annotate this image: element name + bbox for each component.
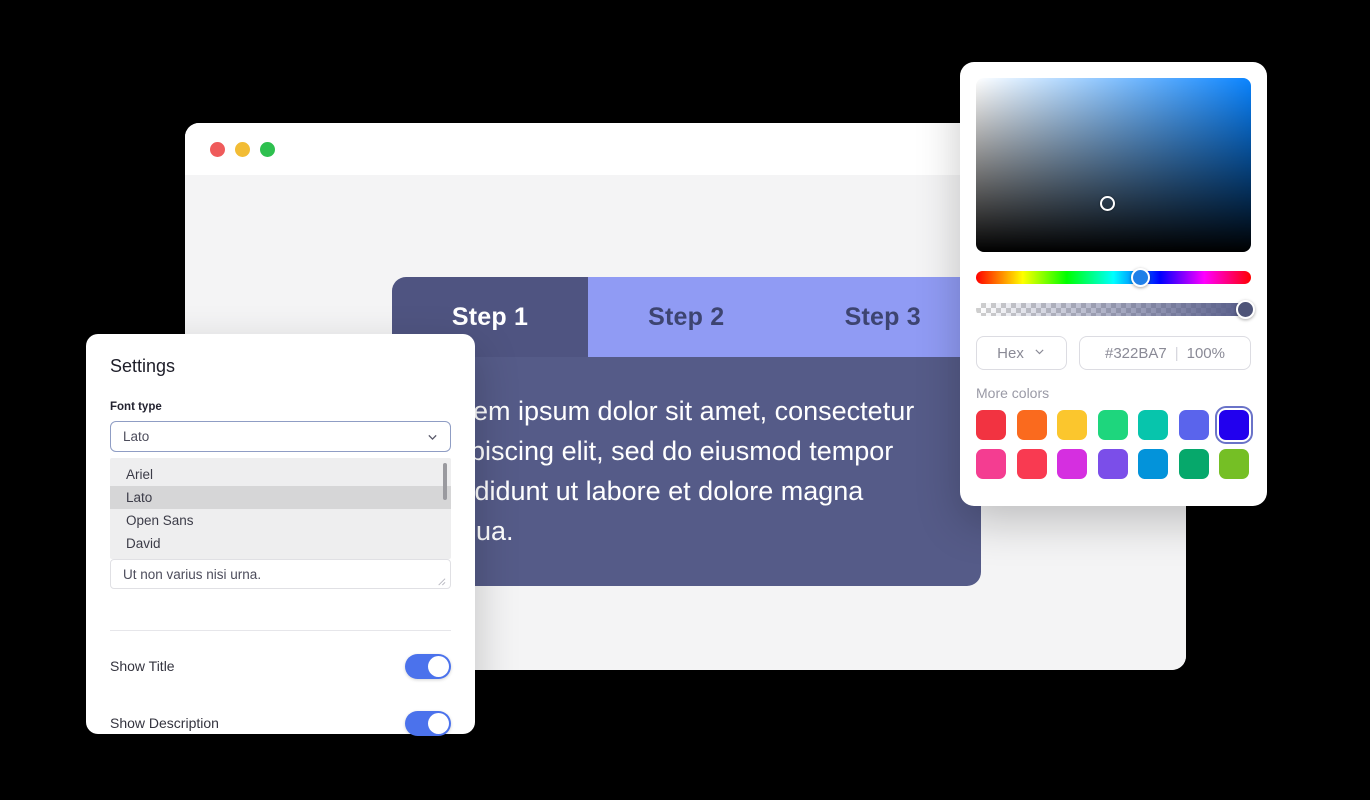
tab-step-3-label: Step 3 [845, 303, 921, 332]
tab-step-2-label: Step 2 [648, 303, 724, 332]
color-swatch[interactable] [1057, 410, 1087, 440]
hue-slider[interactable] [976, 271, 1251, 284]
tab-step-2[interactable]: Step 2 [588, 277, 785, 357]
dropdown-option-ariel[interactable]: Ariel [110, 463, 451, 486]
color-swatch[interactable] [1138, 410, 1168, 440]
color-swatch[interactable] [1179, 449, 1209, 479]
more-colors-label: More colors [976, 385, 1251, 401]
chevron-down-icon [1033, 345, 1046, 362]
show-title-row: Show Title [110, 644, 451, 688]
color-swatch[interactable] [1219, 449, 1249, 479]
tab-step-3[interactable]: Step 3 [785, 277, 982, 357]
window-close-icon[interactable] [210, 142, 225, 157]
tab-step-1-label: Step 1 [452, 303, 528, 332]
show-title-toggle-knob [428, 656, 449, 677]
hex-separator: | [1175, 345, 1179, 362]
opacity-value-text: 100% [1187, 345, 1225, 362]
settings-panel: Settings Font type Lato Ariel Lato Open … [86, 334, 475, 734]
color-swatch-grid [976, 410, 1251, 479]
show-description-toggle[interactable] [405, 711, 451, 736]
color-swatch[interactable] [1179, 410, 1209, 440]
color-format-label: Hex [997, 345, 1024, 362]
hex-value-text: #322BA7 [1105, 345, 1167, 362]
steps-body-text: Lorem ipsum dolor sit amet, consectetur … [434, 391, 939, 551]
dropdown-option-david[interactable]: David [110, 532, 451, 555]
dropdown-scrollbar[interactable] [443, 463, 447, 539]
window-maximize-icon[interactable] [260, 142, 275, 157]
settings-panel-title: Settings [110, 356, 451, 377]
color-swatch[interactable] [1098, 410, 1128, 440]
font-type-select[interactable]: Lato [110, 421, 451, 452]
font-type-dropdown-list[interactable]: Ariel Lato Open Sans David [110, 458, 451, 559]
settings-divider [110, 630, 451, 631]
steps-body: Lorem ipsum dolor sit amet, consectetur … [392, 357, 981, 586]
description-textarea-value: Ut non varius nisi urna. [123, 567, 261, 582]
dropdown-option-open-sans[interactable]: Open Sans [110, 509, 451, 532]
dropdown-option-lato[interactable]: Lato [110, 486, 451, 509]
steps-tab-bar: Step 1 Step 2 Step 3 [392, 277, 981, 357]
dropdown-scrollbar-thumb[interactable] [443, 463, 447, 500]
chevron-down-icon [426, 430, 439, 443]
hex-value-field[interactable]: #322BA7 | 100% [1079, 336, 1251, 370]
color-picker-inputs: Hex #322BA7 | 100% [976, 336, 1251, 370]
color-swatch[interactable] [1098, 449, 1128, 479]
color-swatch[interactable] [976, 410, 1006, 440]
color-swatch[interactable] [1138, 449, 1168, 479]
font-type-label: Font type [110, 401, 451, 413]
alpha-slider-handle[interactable] [1236, 300, 1255, 319]
stage: Step 1 Step 2 Step 3 Lorem ipsum dolor s… [0, 0, 1370, 800]
font-type-select-value: Lato [123, 429, 149, 444]
show-title-toggle[interactable] [405, 654, 451, 679]
color-format-select[interactable]: Hex [976, 336, 1067, 370]
description-textarea[interactable]: Ut non varius nisi urna. [110, 559, 451, 589]
saturation-value-handle[interactable] [1100, 196, 1115, 211]
show-title-label: Show Title [110, 658, 175, 674]
window-minimize-icon[interactable] [235, 142, 250, 157]
show-description-toggle-knob [428, 713, 449, 734]
color-swatch[interactable] [1017, 449, 1047, 479]
steps-card: Step 1 Step 2 Step 3 Lorem ipsum dolor s… [392, 277, 981, 586]
show-description-label: Show Description [110, 715, 219, 731]
color-swatch[interactable] [1219, 410, 1249, 440]
saturation-value-area[interactable] [976, 78, 1251, 252]
color-swatch[interactable] [1057, 449, 1087, 479]
hue-slider-handle[interactable] [1131, 268, 1150, 287]
color-swatch[interactable] [976, 449, 1006, 479]
color-swatch[interactable] [1017, 410, 1047, 440]
color-picker-panel: Hex #322BA7 | 100% More colors [960, 62, 1267, 506]
alpha-slider[interactable] [976, 303, 1251, 316]
resize-grip-icon[interactable] [435, 574, 446, 585]
show-description-row: Show Description [110, 701, 451, 745]
